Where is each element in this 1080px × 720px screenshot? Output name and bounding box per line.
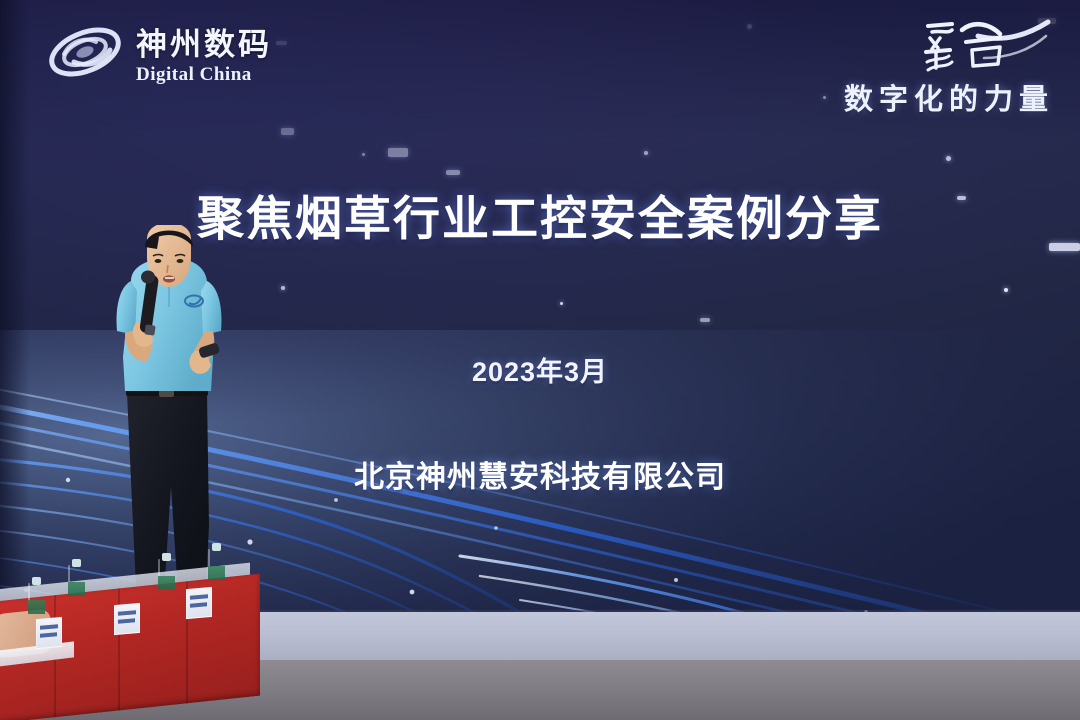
spiral-galaxy-logo-icon — [44, 16, 126, 90]
water-bottle — [28, 584, 45, 602]
name-card — [114, 603, 140, 635]
left-dark-edge — [0, 0, 30, 630]
water-bottle — [208, 550, 225, 568]
name-card — [186, 587, 212, 619]
water-bottle — [158, 560, 175, 578]
front-row-table — [0, 560, 260, 720]
event-theme-lockup: 数字化的力量 — [844, 18, 1054, 118]
digital-china-logo: 神州数码 Digital China — [44, 16, 272, 90]
calligraphy-juhe-icon — [918, 18, 1054, 80]
brand-name-cn: 神州数码 — [136, 29, 272, 60]
brand-wordmark: 神州数码 Digital China — [136, 23, 272, 84]
name-card — [36, 617, 62, 649]
event-tagline: 数字化的力量 — [844, 76, 1054, 118]
brand-name-en: Digital China — [136, 65, 272, 84]
conference-photo-scene: 聚焦烟草行业工控安全案例分享 2023年3月 北京神州慧安科技有限公司 神州数码 — [0, 0, 1080, 720]
water-bottle — [68, 566, 85, 584]
